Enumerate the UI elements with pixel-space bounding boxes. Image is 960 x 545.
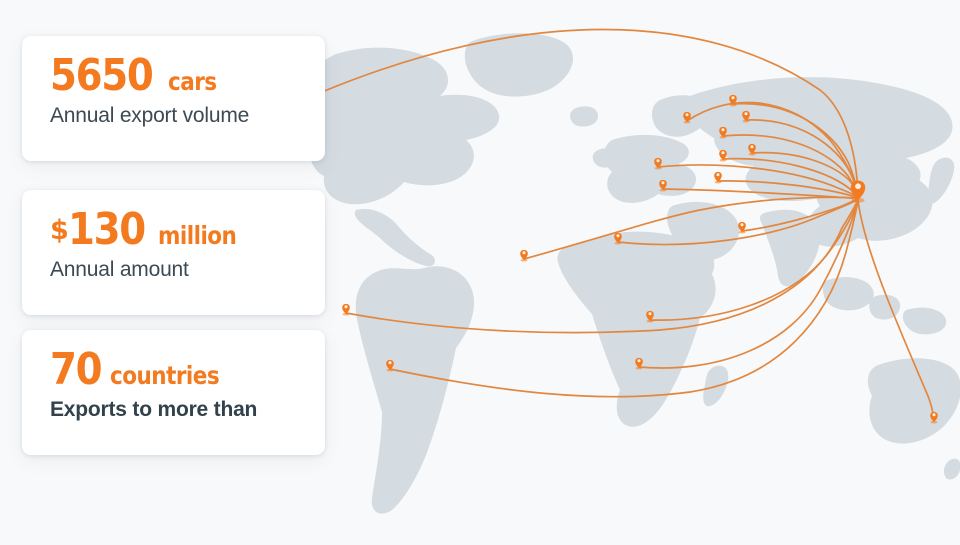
destination-marker-17[interactable] xyxy=(930,412,938,424)
currency-symbol-amount: $ xyxy=(50,215,68,246)
stat-value-countries: 70countries xyxy=(50,348,303,392)
destination-marker-4[interactable] xyxy=(719,127,727,139)
destination-marker-15[interactable] xyxy=(342,304,350,316)
stat-number-volume: 5650 xyxy=(50,54,152,98)
stat-card-volume[interactable]: 5650cars Annual export volume xyxy=(22,36,325,161)
destination-marker-6[interactable] xyxy=(719,150,727,162)
export-hub-marker[interactable] xyxy=(851,181,865,203)
destination-marker-13[interactable] xyxy=(646,311,654,323)
destination-marker-5[interactable] xyxy=(748,144,756,156)
stat-number-countries: 70 xyxy=(50,348,101,392)
destination-marker-1[interactable] xyxy=(683,112,691,124)
destination-marker-9[interactable] xyxy=(659,180,667,192)
destination-marker-8[interactable] xyxy=(714,172,722,184)
land-europe xyxy=(604,135,696,203)
destination-marker-16[interactable] xyxy=(386,360,394,372)
destination-marker-11[interactable] xyxy=(614,233,622,245)
destination-marker-3[interactable] xyxy=(742,111,750,123)
stat-card-list: 5650cars Annual export volume $130millio… xyxy=(0,0,340,545)
destination-marker-10[interactable] xyxy=(738,222,746,234)
land-iceland xyxy=(570,106,598,126)
stat-card-amount[interactable]: $130million Annual amount xyxy=(22,190,325,315)
stat-unit-volume: cars xyxy=(168,69,217,94)
stat-card-countries[interactable]: 70countries Exports to more than xyxy=(22,330,325,455)
destination-marker-14[interactable] xyxy=(635,358,643,370)
stat-unit-amount: million xyxy=(158,223,236,248)
stat-value-amount: $130million xyxy=(50,208,303,252)
destination-marker-7[interactable] xyxy=(654,158,662,170)
stat-label-amount: Annual amount xyxy=(50,258,303,282)
stat-number-amount: 130 xyxy=(68,208,145,252)
stat-label-countries: Exports to more than xyxy=(50,398,303,422)
stat-unit-countries: countries xyxy=(110,363,219,388)
destination-marker-12[interactable] xyxy=(520,250,528,262)
destination-marker-2[interactable] xyxy=(729,95,737,107)
infographic-root: 5650cars Annual export volume $130millio… xyxy=(0,0,960,545)
stat-label-volume: Annual export volume xyxy=(50,104,303,128)
stat-value-volume: 5650cars xyxy=(50,54,303,98)
